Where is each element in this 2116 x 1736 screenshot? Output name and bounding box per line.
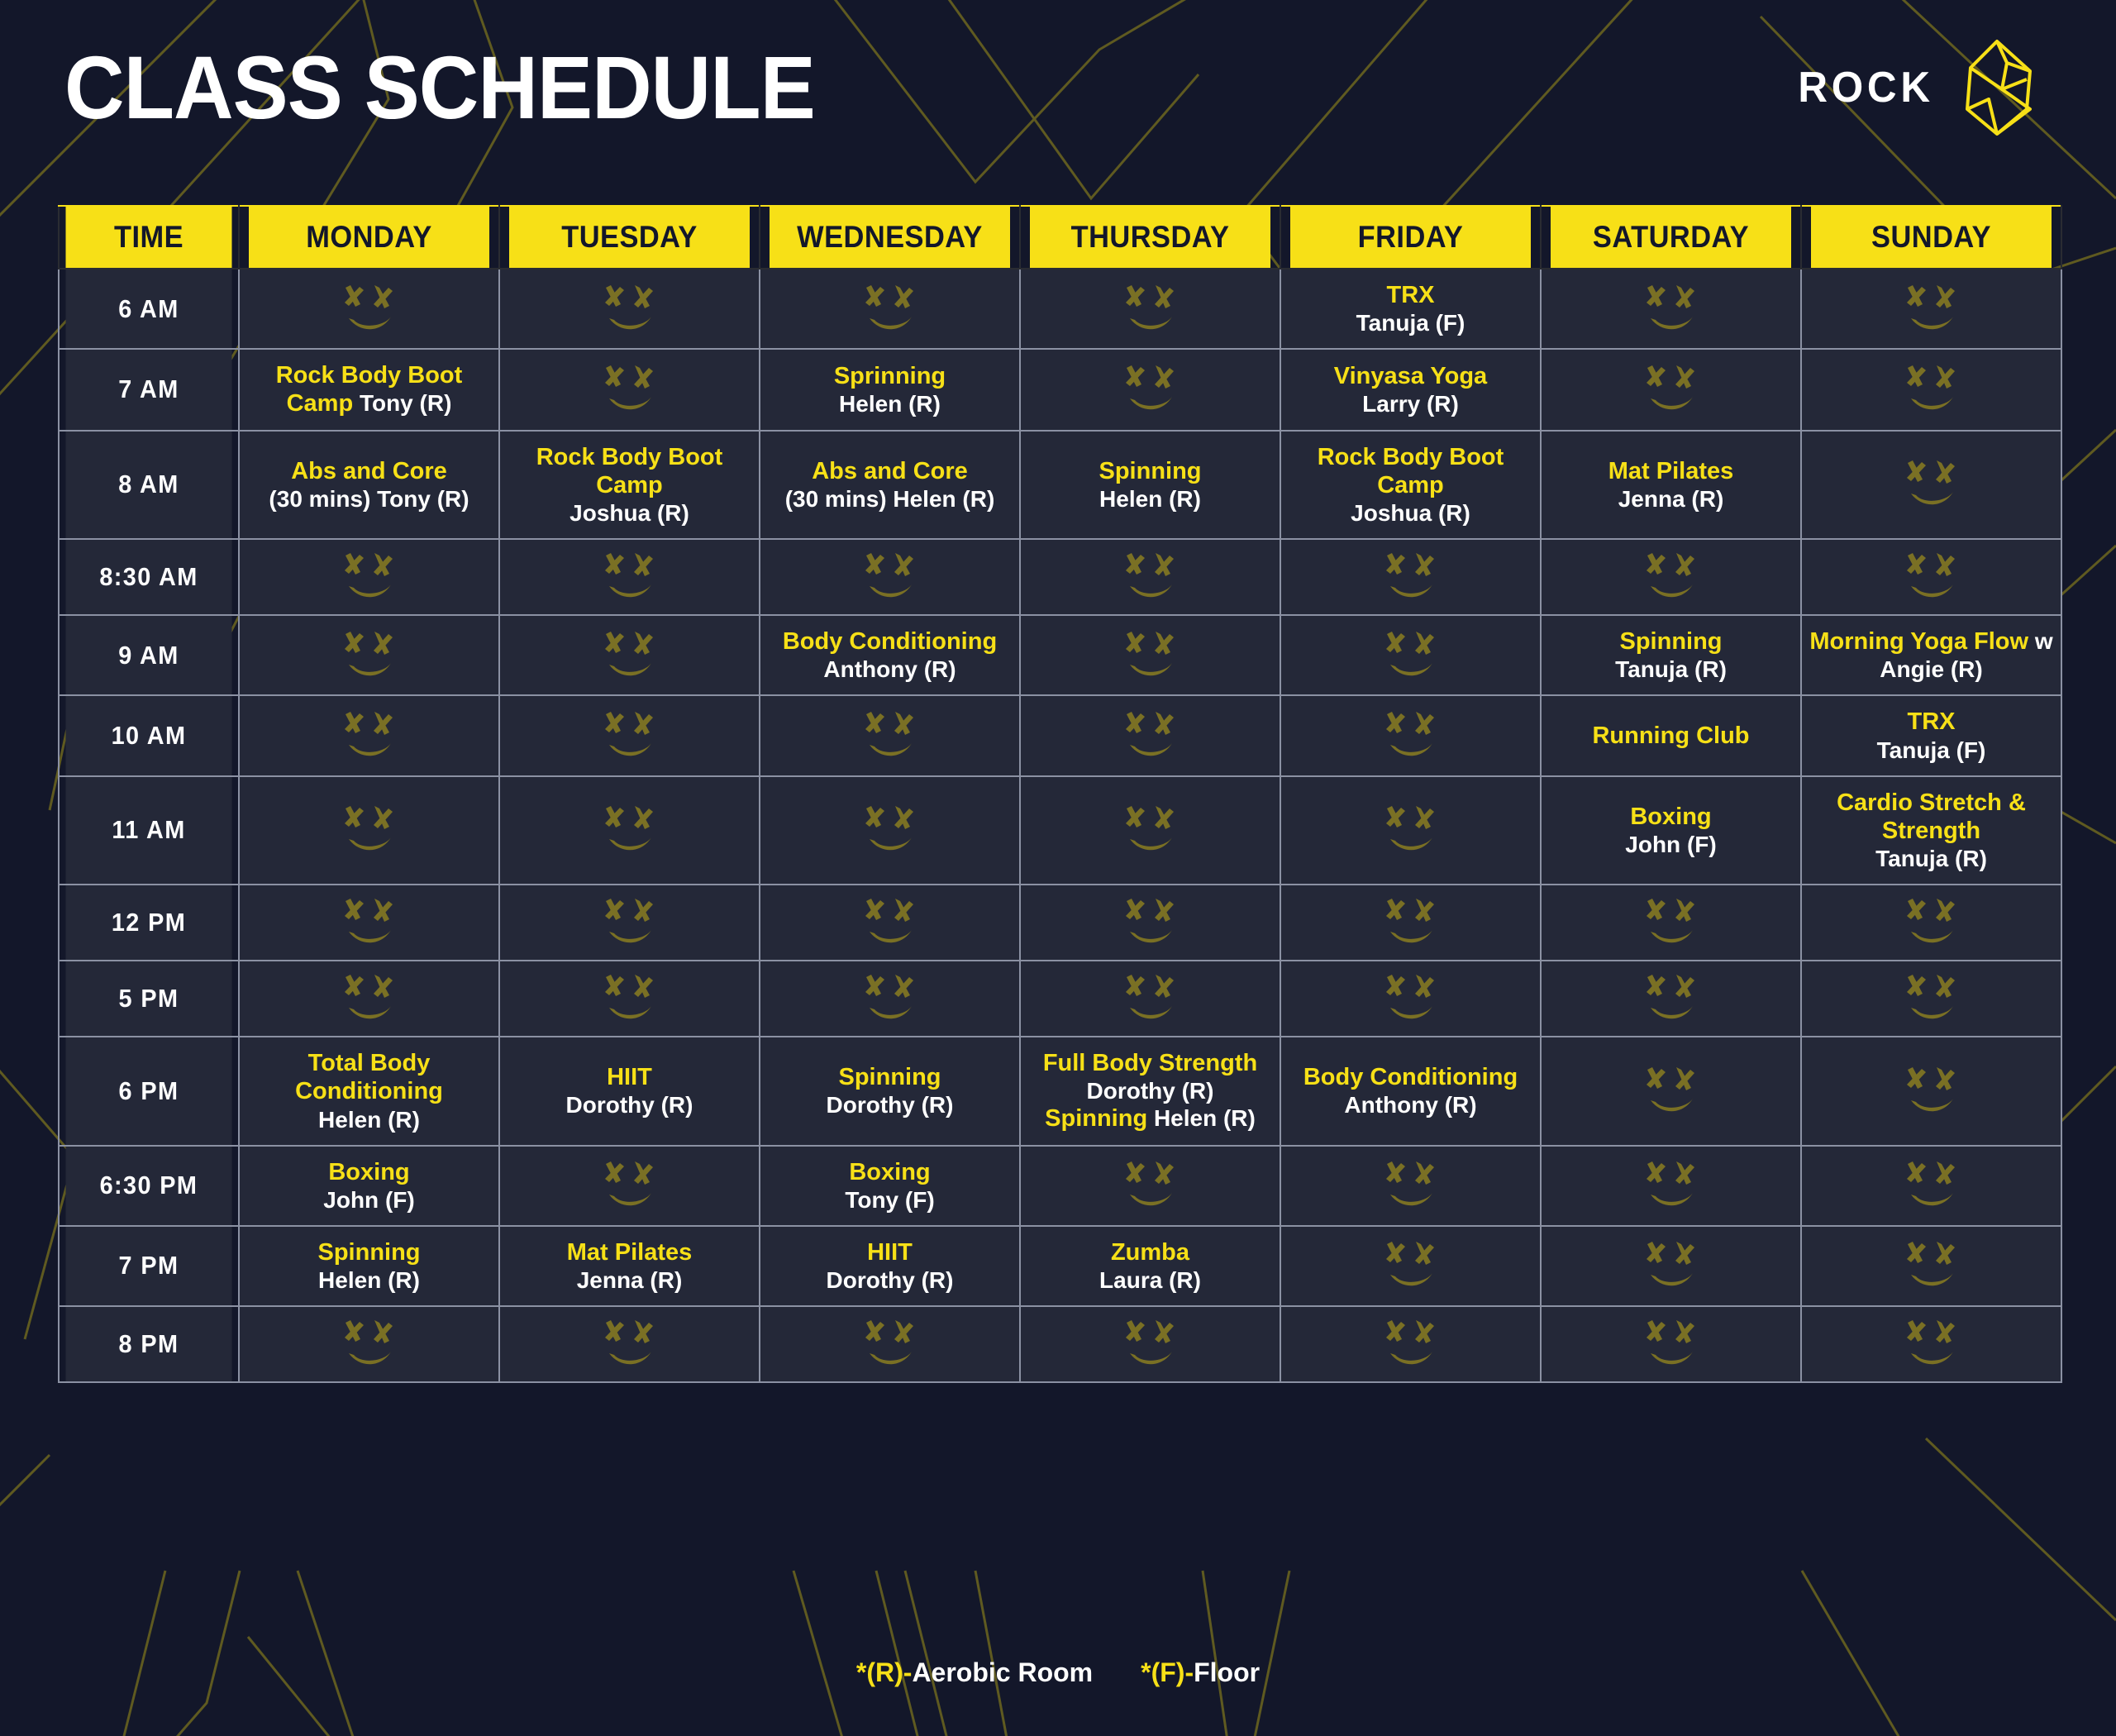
class-slot-cell[interactable]: Morning Yoga Flow w Angie (R) xyxy=(1801,615,2061,695)
class-name: Rock Body Boot Camp xyxy=(1288,443,1533,499)
class-name: Sprinning xyxy=(767,362,1013,390)
empty-slot-cell xyxy=(1280,776,1541,885)
empty-slot-smiley-icon xyxy=(1380,1160,1442,1211)
class-instructor: John (F) xyxy=(1548,831,1794,858)
table-row: 12 PM xyxy=(59,885,2061,961)
empty-slot-cell xyxy=(1020,961,1280,1037)
class-entry: Body ConditioningAnthony (R) xyxy=(767,627,1013,683)
class-name: Mat Pilates xyxy=(1548,457,1794,485)
class-entry: BoxingTony (F) xyxy=(767,1158,1013,1214)
class-instructor: Helen (R) xyxy=(1027,485,1273,513)
table-row: 5 PM xyxy=(59,961,2061,1037)
page-header: CLASS SCHEDULE ROCK xyxy=(64,30,2052,145)
class-instructor: Helen (R) xyxy=(246,1106,492,1133)
class-instructor: Dorothy (R) xyxy=(767,1266,1013,1294)
empty-slot-smiley-icon xyxy=(598,804,661,856)
class-entry: TRXTanuja (F) xyxy=(1809,708,2054,763)
empty-slot-cell xyxy=(1280,885,1541,961)
empty-slot-smiley-icon xyxy=(598,897,661,948)
time-label: 8:30 AM xyxy=(65,539,233,615)
class-entry: HIITDorothy (R) xyxy=(507,1063,752,1118)
empty-slot-cell xyxy=(1541,885,1801,961)
class-name: Spinning xyxy=(1548,627,1794,656)
table-row: 8 AMAbs and Core(30 mins) Tony (R)Rock B… xyxy=(59,431,2061,539)
empty-slot-cell xyxy=(760,776,1020,885)
time-label: 6:30 PM xyxy=(65,1146,233,1226)
empty-slot-cell xyxy=(1020,885,1280,961)
class-name: Boxing xyxy=(246,1158,492,1186)
class-name: Abs and Core xyxy=(767,457,1013,485)
empty-slot-smiley-icon xyxy=(1119,973,1182,1024)
empty-slot-cell xyxy=(1801,431,2061,539)
empty-slot-cell xyxy=(1541,1037,1801,1145)
empty-slot-cell xyxy=(1280,695,1541,775)
class-instructor: Tony (F) xyxy=(767,1186,1013,1214)
empty-slot-cell xyxy=(499,615,760,695)
time-label: 8 PM xyxy=(65,1306,233,1382)
empty-slot-smiley-icon xyxy=(598,551,661,603)
class-instructor: Dorothy (R) xyxy=(1027,1077,1273,1104)
class-slot-cell[interactable]: Total Body ConditioningHelen (R) xyxy=(239,1037,499,1145)
empty-slot-smiley-icon xyxy=(1380,1319,1442,1370)
class-schedule-page: CLASS SCHEDULE ROCK TIMEMONDAYTUESDAYWED… xyxy=(0,0,2116,1736)
class-instructor: Joshua (R) xyxy=(1288,499,1533,527)
class-entry: ZumbaLaura (R) xyxy=(1027,1238,1273,1294)
empty-slot-smiley-icon xyxy=(1119,897,1182,948)
class-slot-cell[interactable]: HIITDorothy (R) xyxy=(499,1037,760,1145)
class-slot-cell[interactable]: SpinningTanuja (R) xyxy=(1541,615,1801,695)
class-entry: Cardio Stretch & StrengthTanuja (R) xyxy=(1809,789,2054,872)
class-instructor: Joshua (R) xyxy=(507,499,752,527)
empty-slot-cell xyxy=(499,269,760,349)
class-instructor: Tanuja (F) xyxy=(1288,309,1533,336)
empty-slot-cell xyxy=(1280,961,1541,1037)
empty-slot-smiley-icon xyxy=(859,1319,922,1370)
class-name: Spinning xyxy=(246,1238,492,1266)
class-entry: Abs and Core(30 mins) Tony (R) xyxy=(246,457,492,513)
empty-slot-cell xyxy=(760,269,1020,349)
class-entry: Morning Yoga Flow w Angie (R) xyxy=(1809,627,2054,683)
time-label: 6 PM xyxy=(65,1037,233,1145)
class-name: HIIT xyxy=(767,1238,1013,1266)
class-instructor: Tanuja (R) xyxy=(1548,656,1794,683)
empty-slot-smiley-icon xyxy=(1380,897,1442,948)
empty-slot-cell xyxy=(1280,1226,1541,1306)
table-row: 9 AMBody ConditioningAnthony (R)Spinning… xyxy=(59,615,2061,695)
column-header-friday: FRIDAY xyxy=(1289,206,1532,269)
class-entry: Total Body ConditioningHelen (R) xyxy=(246,1049,492,1133)
class-slot-cell[interactable]: Abs and Core(30 mins) Tony (R) xyxy=(239,431,499,539)
class-slot-cell[interactable]: SpinningHelen (R) xyxy=(1020,431,1280,539)
empty-slot-cell xyxy=(239,961,499,1037)
empty-slot-cell xyxy=(1801,1226,2061,1306)
brand-name: ROCK xyxy=(1798,63,1933,112)
empty-slot-cell xyxy=(499,961,760,1037)
class-entry: Abs and Core(30 mins) Helen (R) xyxy=(767,457,1013,513)
empty-slot-cell xyxy=(499,776,760,885)
class-entry: Mat PilatesJenna (R) xyxy=(507,1238,752,1294)
empty-slot-cell xyxy=(239,695,499,775)
class-instructor: Anthony (R) xyxy=(767,656,1013,683)
gem-outline-icon xyxy=(1959,38,2035,137)
class-entry: SpinningTanuja (R) xyxy=(1548,627,1794,683)
empty-slot-smiley-icon xyxy=(1900,364,1963,415)
table-row: 11 AMBoxingJohn (F)Cardio Stretch & Stre… xyxy=(59,776,2061,885)
empty-slot-smiley-icon xyxy=(859,551,922,603)
class-slot-cell[interactable]: SpinningHelen (R) xyxy=(239,1226,499,1306)
empty-slot-smiley-icon xyxy=(1119,710,1182,761)
class-instructor: Helen (R) xyxy=(246,1266,492,1294)
class-slot-cell[interactable]: Mat PilatesJenna (R) xyxy=(499,1226,760,1306)
empty-slot-smiley-icon xyxy=(1640,1160,1703,1211)
class-name: TRX xyxy=(1288,281,1533,309)
empty-slot-smiley-icon xyxy=(859,973,922,1024)
empty-slot-smiley-icon xyxy=(1640,897,1703,948)
empty-slot-cell xyxy=(1801,349,2061,430)
class-name: Cardio Stretch & Strength xyxy=(1809,789,2054,845)
empty-slot-smiley-icon xyxy=(1380,1240,1442,1291)
empty-slot-smiley-icon xyxy=(1640,1066,1703,1117)
empty-slot-cell xyxy=(239,885,499,961)
empty-slot-cell xyxy=(1020,776,1280,885)
class-name: Abs and Core xyxy=(246,457,492,485)
class-entry: Rock Body Boot Camp Tony (R) xyxy=(246,361,492,417)
empty-slot-smiley-icon xyxy=(1900,897,1963,948)
empty-slot-smiley-icon xyxy=(1900,551,1963,603)
class-name: Boxing xyxy=(767,1158,1013,1186)
empty-slot-smiley-icon xyxy=(598,1160,661,1211)
column-header-sunday: SUNDAY xyxy=(1810,206,2052,269)
class-entry: Rock Body Boot CampJoshua (R) xyxy=(1288,443,1533,527)
class-slot-cell[interactable]: BoxingJohn (F) xyxy=(239,1146,499,1226)
empty-slot-smiley-icon xyxy=(1640,1240,1703,1291)
empty-slot-cell xyxy=(1020,269,1280,349)
empty-slot-smiley-icon xyxy=(859,804,922,856)
empty-slot-cell xyxy=(1541,1146,1801,1226)
class-entry: Body ConditioningAnthony (R) xyxy=(1288,1063,1533,1118)
class-slot-cell[interactable]: ZumbaLaura (R) xyxy=(1020,1226,1280,1306)
class-instructor: (30 mins) Helen (R) xyxy=(767,485,1013,513)
class-slot-cell[interactable]: BoxingTony (F) xyxy=(760,1146,1020,1226)
class-instructor: Jenna (R) xyxy=(507,1266,752,1294)
class-slot-cell[interactable]: Cardio Stretch & StrengthTanuja (R) xyxy=(1801,776,2061,885)
class-entry: SprinningHelen (R) xyxy=(767,362,1013,417)
empty-slot-cell xyxy=(760,885,1020,961)
empty-slot-cell xyxy=(1801,1037,2061,1145)
empty-slot-smiley-icon xyxy=(1119,630,1182,681)
time-label: 7 PM xyxy=(65,1226,233,1306)
legend-description: Floor xyxy=(1194,1657,1260,1687)
empty-slot-smiley-icon xyxy=(1119,551,1182,603)
empty-slot-smiley-icon xyxy=(1640,551,1703,603)
empty-slot-cell xyxy=(499,1146,760,1226)
table-row: 7 PMSpinningHelen (R)Mat PilatesJenna (R… xyxy=(59,1226,2061,1306)
empty-slot-smiley-icon xyxy=(1900,1066,1963,1117)
class-name: Body Conditioning xyxy=(767,627,1013,656)
empty-slot-cell xyxy=(1020,1306,1280,1382)
class-name: Boxing xyxy=(1548,803,1794,831)
class-slot-cell[interactable]: Body ConditioningAnthony (R) xyxy=(760,615,1020,695)
empty-slot-smiley-icon xyxy=(1900,1240,1963,1291)
brand-logo: ROCK xyxy=(1794,38,2035,137)
empty-slot-smiley-icon xyxy=(338,897,401,948)
table-row: 6:30 PMBoxingJohn (F)BoxingTony (F) xyxy=(59,1146,2061,1226)
legend-key: *(R)- xyxy=(856,1657,913,1687)
empty-slot-cell xyxy=(499,695,760,775)
time-label: 7 AM xyxy=(65,349,233,430)
class-instructor: Anthony (R) xyxy=(1288,1091,1533,1118)
empty-slot-cell xyxy=(1020,349,1280,430)
class-instructor: Larry (R) xyxy=(1288,390,1533,417)
class-entry: HIITDorothy (R) xyxy=(767,1238,1013,1294)
class-name: Full Body Strength xyxy=(1027,1049,1273,1077)
table-row: 6 AMTRXTanuja (F) xyxy=(59,269,2061,349)
class-entry: TRXTanuja (F) xyxy=(1288,281,1533,336)
class-slot-cell[interactable]: Rock Body Boot Camp Tony (R) xyxy=(239,349,499,430)
empty-slot-smiley-icon xyxy=(1640,364,1703,415)
class-instructor: Tanuja (F) xyxy=(1809,737,2054,764)
time-label: 5 PM xyxy=(65,961,233,1037)
class-slot-cell[interactable]: Abs and Core(30 mins) Helen (R) xyxy=(760,431,1020,539)
legend-description: Aerobic Room xyxy=(912,1657,1093,1687)
empty-slot-smiley-icon xyxy=(598,364,661,415)
table-row: 10 AMRunning ClubTRXTanuja (F) xyxy=(59,695,2061,775)
class-slot-cell[interactable]: HIITDorothy (R) xyxy=(760,1226,1020,1306)
empty-slot-smiley-icon xyxy=(1640,284,1703,335)
class-entry: SpinningHelen (R) xyxy=(1027,457,1273,513)
empty-slot-cell xyxy=(499,539,760,615)
empty-slot-cell xyxy=(239,615,499,695)
empty-slot-smiley-icon xyxy=(338,284,401,335)
class-name: Zumba xyxy=(1027,1238,1273,1266)
table-row: 8:30 AM xyxy=(59,539,2061,615)
empty-slot-cell xyxy=(1020,695,1280,775)
empty-slot-cell xyxy=(760,961,1020,1037)
empty-slot-cell xyxy=(1541,1226,1801,1306)
schedule-table-head: TIMEMONDAYTUESDAYWEDNESDAYTHURSDAYFRIDAY… xyxy=(59,206,2061,269)
empty-slot-cell xyxy=(1541,349,1801,430)
empty-slot-smiley-icon xyxy=(1900,284,1963,335)
class-instructor: Tanuja (R) xyxy=(1809,845,2054,872)
empty-slot-smiley-icon xyxy=(859,897,922,948)
empty-slot-cell xyxy=(1541,269,1801,349)
class-entry: Mat PilatesJenna (R) xyxy=(1548,457,1794,513)
empty-slot-cell xyxy=(499,1306,760,1382)
column-header-monday: MONDAY xyxy=(248,206,490,269)
class-entry: Vinyasa YogaLarry (R) xyxy=(1288,362,1533,417)
empty-slot-smiley-icon xyxy=(1640,1319,1703,1370)
class-entry: Rock Body Boot CampJoshua (R) xyxy=(507,443,752,527)
schedule-table-wrapper: TIMEMONDAYTUESDAYWEDNESDAYTHURSDAYFRIDAY… xyxy=(58,205,2062,1383)
empty-slot-smiley-icon xyxy=(1119,804,1182,856)
class-slot-cell[interactable]: Body ConditioningAnthony (R) xyxy=(1280,1037,1541,1145)
empty-slot-smiley-icon xyxy=(859,284,922,335)
empty-slot-smiley-icon xyxy=(1380,710,1442,761)
empty-slot-smiley-icon xyxy=(338,630,401,681)
class-slot-cell[interactable]: Mat PilatesJenna (R) xyxy=(1541,431,1801,539)
column-header-thursday: THURSDAY xyxy=(1029,206,1271,269)
class-entry: Full Body StrengthDorothy (R) xyxy=(1027,1049,1273,1104)
empty-slot-cell xyxy=(1020,1146,1280,1226)
table-row: 7 AMRock Body Boot Camp Tony (R)Sprinnin… xyxy=(59,349,2061,430)
class-entry: Spinning Helen (R) xyxy=(1027,1104,1273,1133)
column-header-saturday: SATURDAY xyxy=(1550,206,1792,269)
column-header-time: TIME xyxy=(65,206,233,269)
empty-slot-cell xyxy=(1280,1146,1541,1226)
time-label: 8 AM xyxy=(65,431,233,539)
empty-slot-cell xyxy=(239,539,499,615)
empty-slot-smiley-icon xyxy=(338,710,401,761)
empty-slot-smiley-icon xyxy=(1119,1160,1182,1211)
empty-slot-cell xyxy=(239,1306,499,1382)
class-slot-cell[interactable]: Rock Body Boot CampJoshua (R) xyxy=(499,431,760,539)
schedule-header-row: TIMEMONDAYTUESDAYWEDNESDAYTHURSDAYFRIDAY… xyxy=(59,206,2061,269)
empty-slot-cell xyxy=(760,695,1020,775)
column-header-tuesday: TUESDAY xyxy=(508,206,751,269)
class-name: Body Conditioning xyxy=(1288,1063,1533,1091)
empty-slot-smiley-icon xyxy=(1900,459,1963,510)
class-name: Rock Body Boot Camp xyxy=(507,443,752,499)
class-instructor: Dorothy (R) xyxy=(767,1091,1013,1118)
empty-slot-smiley-icon xyxy=(1119,364,1182,415)
class-name: Spinning xyxy=(1045,1105,1147,1132)
empty-slot-smiley-icon xyxy=(1900,1160,1963,1211)
empty-slot-cell xyxy=(239,269,499,349)
empty-slot-smiley-icon xyxy=(1119,1319,1182,1370)
empty-slot-cell xyxy=(1020,539,1280,615)
legend-item: *(F)-Floor xyxy=(1141,1657,1260,1688)
empty-slot-smiley-icon xyxy=(1640,973,1703,1024)
class-name: Spinning xyxy=(1027,457,1273,485)
class-slot-cell[interactable]: SprinningHelen (R) xyxy=(760,349,1020,430)
empty-slot-smiley-icon xyxy=(1900,973,1963,1024)
class-name: Mat Pilates xyxy=(507,1238,752,1266)
empty-slot-cell xyxy=(1280,615,1541,695)
empty-slot-cell xyxy=(1801,269,2061,349)
empty-slot-smiley-icon xyxy=(598,973,661,1024)
legend-footer: *(R)-Aerobic Room*(F)-Floor xyxy=(0,1657,2116,1688)
empty-slot-cell xyxy=(239,776,499,885)
time-label: 11 AM xyxy=(65,776,233,885)
empty-slot-cell xyxy=(1801,1146,2061,1226)
empty-slot-cell xyxy=(1541,1306,1801,1382)
empty-slot-cell xyxy=(1801,539,2061,615)
empty-slot-cell xyxy=(1801,885,2061,961)
empty-slot-cell xyxy=(1280,1306,1541,1382)
empty-slot-smiley-icon xyxy=(338,973,401,1024)
class-slot-cell[interactable]: Full Body StrengthDorothy (R)Spinning He… xyxy=(1020,1037,1280,1145)
time-label: 9 AM xyxy=(65,615,233,695)
empty-slot-smiley-icon xyxy=(338,551,401,603)
class-instructor: Helen (R) xyxy=(767,390,1013,417)
empty-slot-cell xyxy=(499,349,760,430)
class-entry: SpinningHelen (R) xyxy=(246,1238,492,1294)
class-slot-cell[interactable]: BoxingJohn (F) xyxy=(1541,776,1801,885)
class-instructor: Jenna (R) xyxy=(1548,485,1794,513)
class-instructor: Dorothy (R) xyxy=(507,1091,752,1118)
class-name: Spinning xyxy=(767,1063,1013,1091)
empty-slot-cell xyxy=(1801,1306,2061,1382)
class-slot-cell[interactable]: TRXTanuja (F) xyxy=(1280,269,1541,349)
empty-slot-cell xyxy=(1280,539,1541,615)
empty-slot-smiley-icon xyxy=(338,804,401,856)
empty-slot-cell xyxy=(1801,961,2061,1037)
empty-slot-smiley-icon xyxy=(1900,1319,1963,1370)
class-instructor: (30 mins) Tony (R) xyxy=(246,485,492,513)
class-slot-cell[interactable]: Vinyasa YogaLarry (R) xyxy=(1280,349,1541,430)
empty-slot-smiley-icon xyxy=(598,710,661,761)
column-header-wednesday: WEDNESDAY xyxy=(769,206,1011,269)
empty-slot-smiley-icon xyxy=(859,710,922,761)
legend-key: *(F)- xyxy=(1141,1657,1194,1687)
class-name: Total Body Conditioning xyxy=(246,1049,492,1105)
class-name: Vinyasa Yoga xyxy=(1288,362,1533,390)
class-name: TRX xyxy=(1809,708,2054,736)
empty-slot-cell xyxy=(499,885,760,961)
table-row: 8 PM xyxy=(59,1306,2061,1382)
empty-slot-smiley-icon xyxy=(598,284,661,335)
empty-slot-cell xyxy=(1020,615,1280,695)
table-row: 6 PMTotal Body ConditioningHelen (R)HIIT… xyxy=(59,1037,2061,1145)
class-name: HIIT xyxy=(507,1063,752,1091)
class-entry: BoxingJohn (F) xyxy=(246,1158,492,1214)
class-name: Running Club xyxy=(1548,722,1794,750)
time-label: 6 AM xyxy=(65,269,233,349)
empty-slot-cell xyxy=(760,1306,1020,1382)
class-slot-cell[interactable]: SpinningDorothy (R) xyxy=(760,1037,1020,1145)
empty-slot-smiley-icon xyxy=(598,1319,661,1370)
page-title: CLASS SCHEDULE xyxy=(64,43,815,132)
empty-slot-smiley-icon xyxy=(1380,804,1442,856)
schedule-table: TIMEMONDAYTUESDAYWEDNESDAYTHURSDAYFRIDAY… xyxy=(58,205,2062,1383)
empty-slot-cell xyxy=(760,539,1020,615)
schedule-table-body: 6 AMTRXTanuja (F)7 AMRock Body Boot Camp… xyxy=(59,269,2061,1382)
class-instructor: John (F) xyxy=(246,1186,492,1214)
empty-slot-smiley-icon xyxy=(1380,973,1442,1024)
empty-slot-cell xyxy=(1541,961,1801,1037)
empty-slot-smiley-icon xyxy=(1380,630,1442,681)
class-entry: Running Club xyxy=(1548,722,1794,750)
class-instructor: Tony (R) xyxy=(353,390,451,416)
class-slot-cell[interactable]: Running Club xyxy=(1541,695,1801,775)
class-instructor: Laura (R) xyxy=(1027,1266,1273,1294)
time-label: 12 PM xyxy=(65,885,233,961)
class-entry: SpinningDorothy (R) xyxy=(767,1063,1013,1118)
empty-slot-cell xyxy=(1541,539,1801,615)
legend-item: *(R)-Aerobic Room xyxy=(856,1657,1093,1688)
class-instructor: Helen (R) xyxy=(1147,1105,1256,1131)
class-name: Morning Yoga Flow xyxy=(1809,628,2028,655)
empty-slot-smiley-icon xyxy=(1119,284,1182,335)
empty-slot-smiley-icon xyxy=(598,630,661,681)
class-entry: BoxingJohn (F) xyxy=(1548,803,1794,858)
class-slot-cell[interactable]: TRXTanuja (F) xyxy=(1801,695,2061,775)
empty-slot-smiley-icon xyxy=(338,1319,401,1370)
time-label: 10 AM xyxy=(65,695,233,775)
empty-slot-smiley-icon xyxy=(1380,551,1442,603)
class-slot-cell[interactable]: Rock Body Boot CampJoshua (R) xyxy=(1280,431,1541,539)
